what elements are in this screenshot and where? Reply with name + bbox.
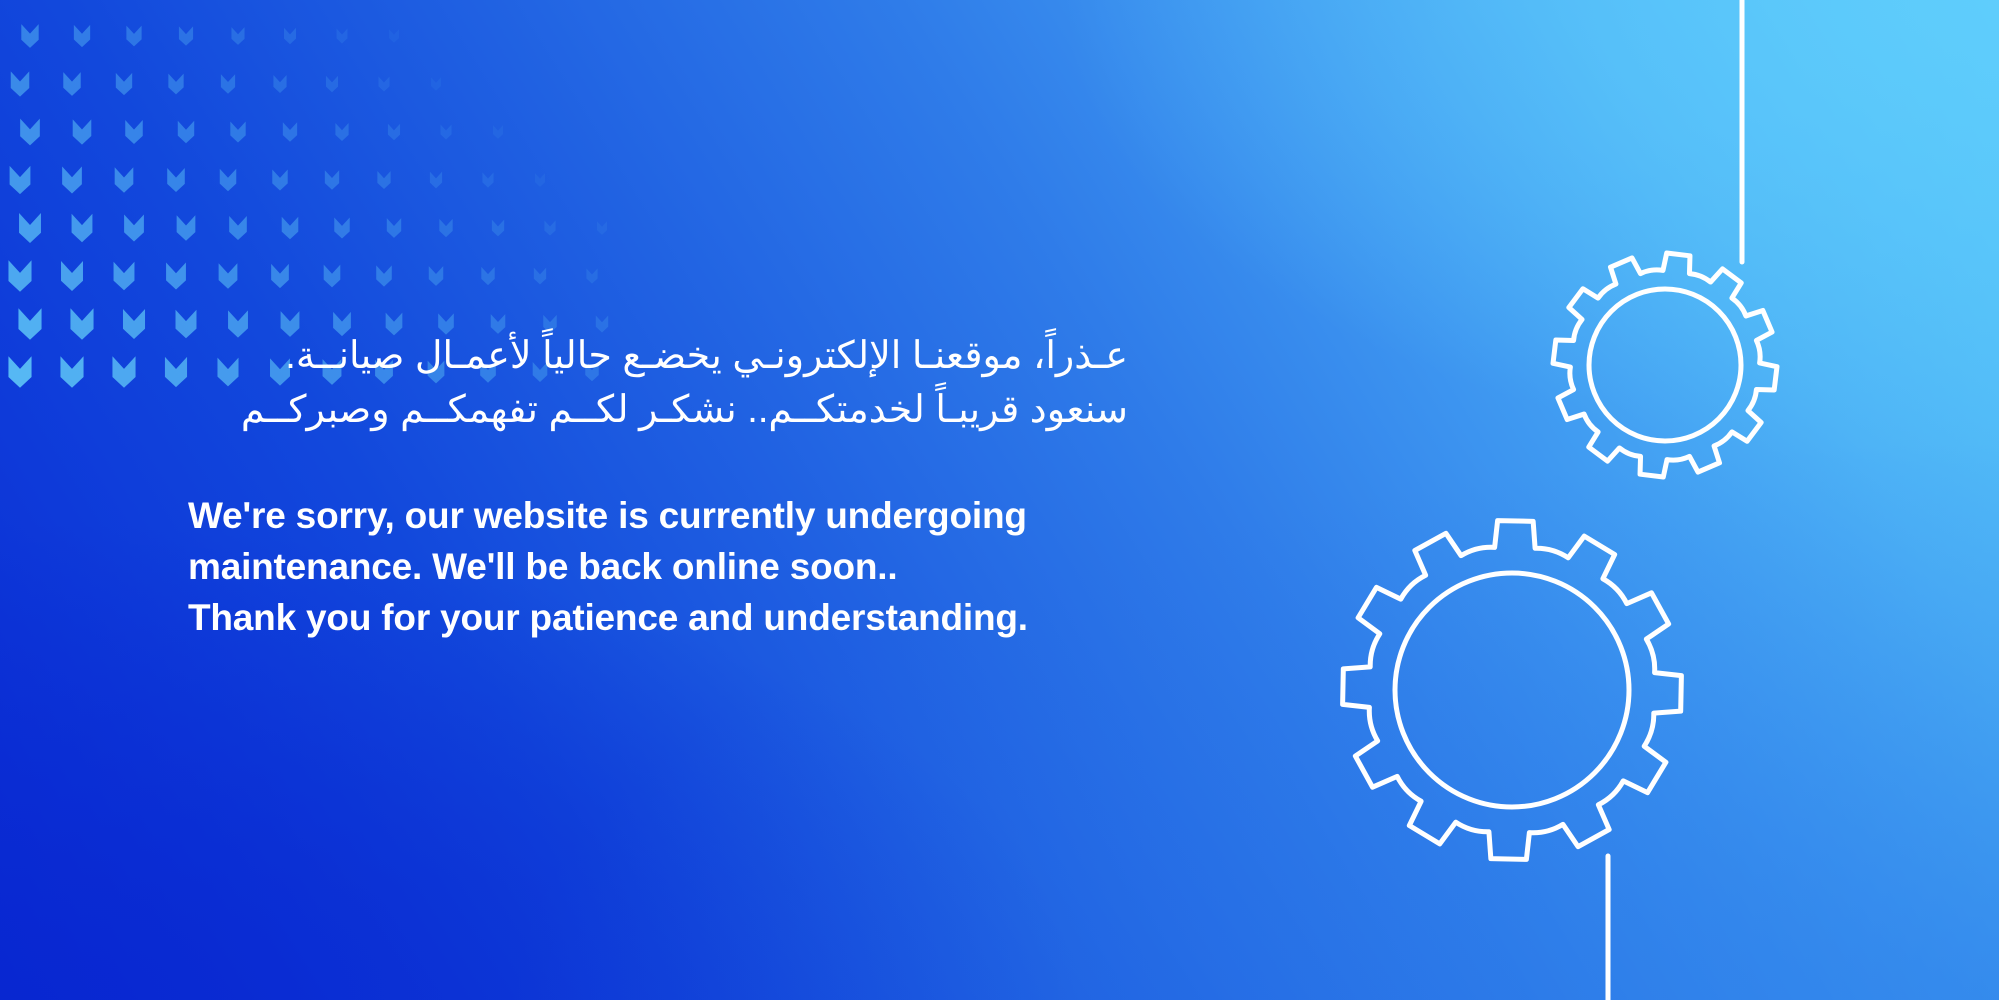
- arabic-line-1: عـذراً، موقعنـا الإلكترونـي يخضـع حالياً…: [188, 330, 1128, 384]
- arabic-message: عـذراً، موقعنـا الإلكترونـي يخضـع حالياً…: [188, 330, 1128, 438]
- maintenance-message: عـذراً، موقعنـا الإلكترونـي يخضـع حالياً…: [188, 330, 1138, 643]
- maintenance-page: عـذراً، موقعنـا الإلكترونـي يخضـع حالياً…: [0, 0, 1999, 1000]
- english-line-1: We're sorry, our website is currently un…: [188, 490, 1138, 541]
- arabic-line-2: سنعود قريبـاً لخدمتكــم.. نشكـر لكــم تف…: [188, 384, 1128, 438]
- english-line-2: maintenance. We'll be back online soon..: [188, 541, 1138, 592]
- english-line-3: Thank you for your patience and understa…: [188, 592, 1138, 643]
- english-message: We're sorry, our website is currently un…: [188, 490, 1138, 643]
